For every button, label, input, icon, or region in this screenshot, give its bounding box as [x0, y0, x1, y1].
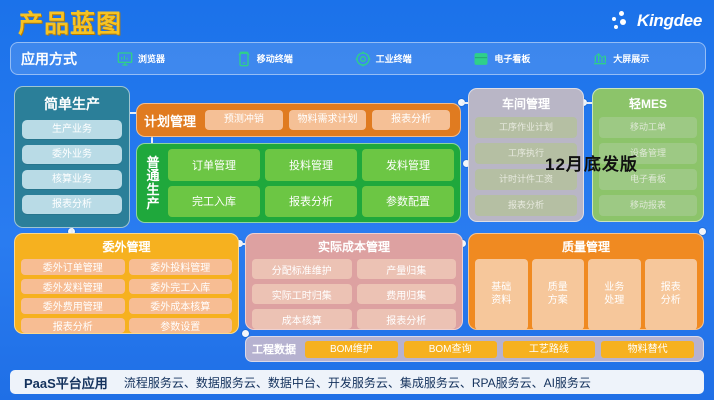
item-quality-2[interactable]: 业务 处理: [588, 259, 641, 330]
item-outsourcing-2[interactable]: 委外发料管理: [21, 279, 125, 295]
item-outsourcing-6[interactable]: 报表分析: [21, 318, 125, 334]
nav-label-bigscreen: 大屏展示: [613, 52, 649, 65]
item-plan-management-0[interactable]: 预测冲销: [205, 110, 283, 130]
item-plan-management-1[interactable]: 物料需求计划: [289, 110, 367, 130]
item-quality-1[interactable]: 质量 方案: [532, 259, 585, 330]
item-outsourcing-5[interactable]: 委外成本核算: [129, 298, 233, 314]
header-bar: 产品蓝图 Kingdee: [0, 0, 714, 40]
panel-outsourcing-management: 委外管理 委外订单管理 委外投料管理 委外发料管理 委外完工入库 委外费用管理 …: [14, 233, 239, 334]
panel-title-engineering-data: 工程数据: [252, 341, 296, 357]
product-blueprint-page: 产品蓝图 Kingdee 应用方式 浏览器: [0, 0, 714, 400]
item-engineering-data-3[interactable]: 物料替代: [601, 341, 694, 358]
item-actual-cost-1[interactable]: 产量归集: [357, 259, 457, 279]
panel-title-light-mes: 轻MES: [599, 95, 697, 112]
panel-title-simple-production: 简单生产: [22, 94, 122, 114]
application-mode-bar: 应用方式 浏览器 移动终端: [10, 42, 706, 75]
nav-item-industrial[interactable]: 工业终端: [349, 51, 468, 67]
item-actual-cost-4[interactable]: 成本核算: [252, 309, 352, 329]
panel-plan-management: 计划管理 预测冲销 物料需求计划 报表分析: [136, 103, 461, 137]
item-outsourcing-1[interactable]: 委外投料管理: [129, 259, 233, 275]
nav-label-industrial: 工业终端: [376, 52, 412, 65]
item-simple-production-0[interactable]: 生产业务: [22, 120, 122, 139]
monitor-icon: [117, 51, 133, 67]
item-quality-3[interactable]: 报表 分析: [645, 259, 698, 330]
panel-title-plan-management: 计划管理: [144, 111, 196, 130]
item-outsourcing-7[interactable]: 参数设置: [129, 318, 233, 334]
item-normal-production-4[interactable]: 报表分析: [265, 186, 357, 218]
gear-circle-icon: [355, 51, 371, 67]
item-quality-3-line2: 分析: [661, 295, 681, 308]
item-quality-3-line1: 报表: [661, 282, 681, 295]
paas-service-list: 流程服务云、数据服务云、数据中台、开发服务云、集成服务云、RPA服务云、AI服务…: [124, 374, 591, 391]
item-outsourcing-4[interactable]: 委外费用管理: [21, 298, 125, 314]
item-workshop-management-0[interactable]: 工序作业计划: [475, 117, 577, 138]
item-actual-cost-5[interactable]: 报表分析: [357, 309, 457, 329]
mobile-phone-icon: [236, 51, 252, 67]
nav-item-kanban[interactable]: 电子看板: [467, 51, 586, 67]
item-quality-1-line2: 方案: [548, 295, 568, 308]
nav-label-mobile: 移动终端: [257, 52, 293, 65]
item-engineering-data-0[interactable]: BOM维护: [305, 341, 398, 358]
release-note: 12月底发版: [545, 150, 638, 175]
panel-title-normal-production: 普通生产: [143, 149, 163, 217]
item-actual-cost-3[interactable]: 费用归集: [357, 284, 457, 304]
kanban-board-icon: [473, 51, 489, 67]
item-actual-cost-0[interactable]: 分配标准维护: [252, 259, 352, 279]
application-mode-items: 浏览器 移动终端 工业终端: [111, 51, 705, 67]
nav-item-bigscreen[interactable]: 大屏展示: [586, 51, 705, 67]
panel-engineering-data: 工程数据 BOM维护 BOM查询 工艺路线 物料替代: [245, 336, 704, 362]
item-quality-2-line2: 处理: [604, 295, 624, 308]
item-normal-production-2[interactable]: 发料管理: [362, 149, 454, 181]
item-light-mes-0[interactable]: 移动工单: [599, 117, 697, 138]
nav-label-browser: 浏览器: [138, 52, 165, 65]
brand-name: Kingdee: [637, 11, 702, 31]
item-normal-production-3[interactable]: 完工入库: [168, 186, 260, 218]
item-engineering-data-1[interactable]: BOM查询: [404, 341, 497, 358]
kingdee-dots-icon: [610, 10, 632, 32]
item-normal-production-0[interactable]: 订单管理: [168, 149, 260, 181]
item-quality-2-line1: 业务: [604, 282, 624, 295]
paas-title: PaaS平台应用: [24, 373, 108, 392]
item-quality-0-line2: 资料: [491, 295, 511, 308]
item-plan-management-2[interactable]: 报表分析: [372, 110, 450, 130]
item-quality-0[interactable]: 基础 资料: [475, 259, 528, 330]
item-outsourcing-0[interactable]: 委外订单管理: [21, 259, 125, 275]
item-quality-1-line1: 质量: [548, 282, 568, 295]
page-title: 产品蓝图: [18, 4, 122, 40]
application-mode-label: 应用方式: [21, 49, 111, 69]
paas-platform-bar: PaaS平台应用 流程服务云、数据服务云、数据中台、开发服务云、集成服务云、RP…: [10, 370, 704, 394]
panel-title-workshop-management: 车间管理: [475, 95, 577, 112]
nav-item-mobile[interactable]: 移动终端: [230, 51, 349, 67]
nav-label-kanban: 电子看板: [494, 52, 530, 65]
panel-actual-cost-management: 实际成本管理 分配标准维护 产量归集 实际工时归集 费用归集 成本核算 报表分析: [245, 233, 463, 330]
panel-simple-production: 简单生产 生产业务 委外业务 核算业务 报表分析: [14, 86, 130, 228]
panel-quality-management: 质量管理 基础 资料 质量 方案 业务 处理 报表 分析: [468, 233, 704, 330]
item-outsourcing-3[interactable]: 委外完工入库: [129, 279, 233, 295]
item-light-mes-3[interactable]: 移动报表: [599, 195, 697, 216]
panel-title-outsourcing-management: 委外管理: [21, 238, 232, 255]
item-simple-production-1[interactable]: 委外业务: [22, 145, 122, 164]
brand: Kingdee: [610, 10, 702, 32]
item-normal-production-1[interactable]: 投料管理: [265, 149, 357, 181]
item-workshop-management-3[interactable]: 报表分析: [475, 195, 577, 216]
panel-title-actual-cost-management: 实际成本管理: [252, 238, 456, 255]
item-normal-production-5[interactable]: 参数配置: [362, 186, 454, 218]
item-engineering-data-2[interactable]: 工艺路线: [503, 341, 596, 358]
panel-title-quality-management: 质量管理: [475, 238, 697, 255]
nav-item-browser[interactable]: 浏览器: [111, 51, 230, 67]
chart-screen-icon: [592, 51, 608, 67]
item-actual-cost-2[interactable]: 实际工时归集: [252, 284, 352, 304]
item-simple-production-2[interactable]: 核算业务: [22, 170, 122, 189]
item-quality-0-line1: 基础: [491, 282, 511, 295]
panel-normal-production: 普通生产 订单管理 投料管理 发料管理 完工入库 报表分析 参数配置: [136, 143, 461, 223]
item-simple-production-3[interactable]: 报表分析: [22, 195, 122, 214]
